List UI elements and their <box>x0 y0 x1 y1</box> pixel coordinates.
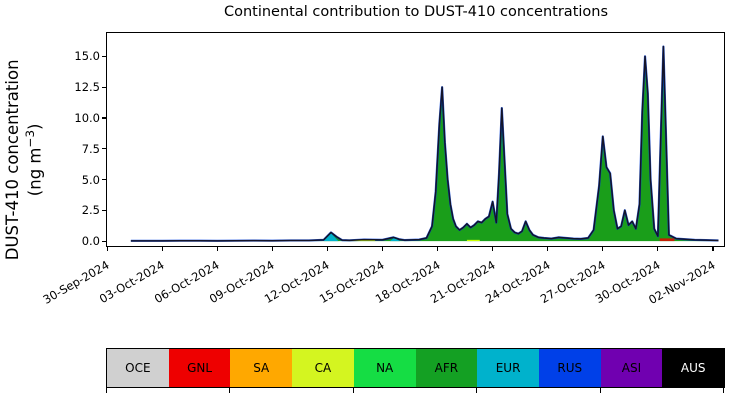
colorbar-tick <box>353 388 354 393</box>
series-fill-ca <box>467 240 480 241</box>
x-tick-mark <box>217 247 218 251</box>
y-tick-label: 7.5 <box>50 142 100 156</box>
y-tick-mark <box>102 148 106 149</box>
x-tick-mark <box>547 247 548 251</box>
colorbar-tick <box>106 388 107 393</box>
x-tick-mark <box>602 247 603 251</box>
chart-title: Continental contribution to DUST-410 con… <box>106 4 726 20</box>
colorbar-segment-gnl[interactable]: GNL <box>169 349 231 387</box>
x-tick-mark <box>492 247 493 251</box>
colorbar-segment-asi[interactable]: ASI <box>601 349 663 387</box>
x-tick-mark <box>657 247 658 251</box>
x-tick-mark <box>382 247 383 251</box>
series-fill-afr <box>131 47 719 242</box>
colorbar-tick <box>600 388 601 393</box>
series-outline-rus <box>131 47 719 241</box>
y-axis-label-line1: DUST-410 concentration <box>3 59 22 260</box>
colorbar-segment-aus[interactable]: AUS <box>662 349 724 387</box>
x-tick-mark <box>272 247 273 251</box>
colorbar-segment-ca[interactable]: CA <box>292 349 354 387</box>
y-tick-label: 10.0 <box>50 111 100 125</box>
x-tick-mark <box>107 247 108 251</box>
colorbar-segment-sa[interactable]: SA <box>230 349 292 387</box>
y-tick-label: 0.0 <box>50 234 100 248</box>
y-axis-label-line2: (ng m−3) <box>23 50 46 270</box>
y-tick-label: 12.5 <box>50 80 100 94</box>
y-tick-mark <box>102 241 106 242</box>
y-axis-label: DUST-410 concentration (ng m−3) <box>2 50 46 270</box>
timeseries-plot <box>107 33 724 246</box>
y-tick-label: 15.0 <box>50 49 100 63</box>
x-tick-mark <box>712 247 713 251</box>
colorbar-segment-eur[interactable]: EUR <box>477 349 539 387</box>
total-concentration-line <box>131 47 719 241</box>
x-tick-mark <box>437 247 438 251</box>
y-tick-mark <box>102 87 106 88</box>
y-tick-mark <box>102 210 106 211</box>
y-tick-mark <box>102 117 106 118</box>
colorbar-tick <box>476 388 477 393</box>
y-tick-mark <box>102 56 106 57</box>
x-tick-mark <box>162 247 163 251</box>
colorbar-segment-oce[interactable]: OCE <box>107 349 169 387</box>
plot-area <box>106 32 725 247</box>
colorbar-tick <box>723 388 724 393</box>
y-tick-label: 5.0 <box>50 173 100 187</box>
series-fill-gnl <box>660 238 675 241</box>
colorbar-segment-na[interactable]: NA <box>354 349 416 387</box>
colorbar-tick <box>229 388 230 393</box>
colorbar-segment-afr[interactable]: AFR <box>416 349 478 387</box>
colorbar-segment-rus[interactable]: RUS <box>539 349 601 387</box>
figure-canvas: Continental contribution to DUST-410 con… <box>0 0 735 402</box>
y-tick-mark <box>102 179 106 180</box>
y-tick-label: 2.5 <box>50 203 100 217</box>
x-tick-mark <box>327 247 328 251</box>
continent-colorbar-legend[interactable]: OCEGNLSACANAAFREURRUSASIAUS <box>106 348 725 388</box>
